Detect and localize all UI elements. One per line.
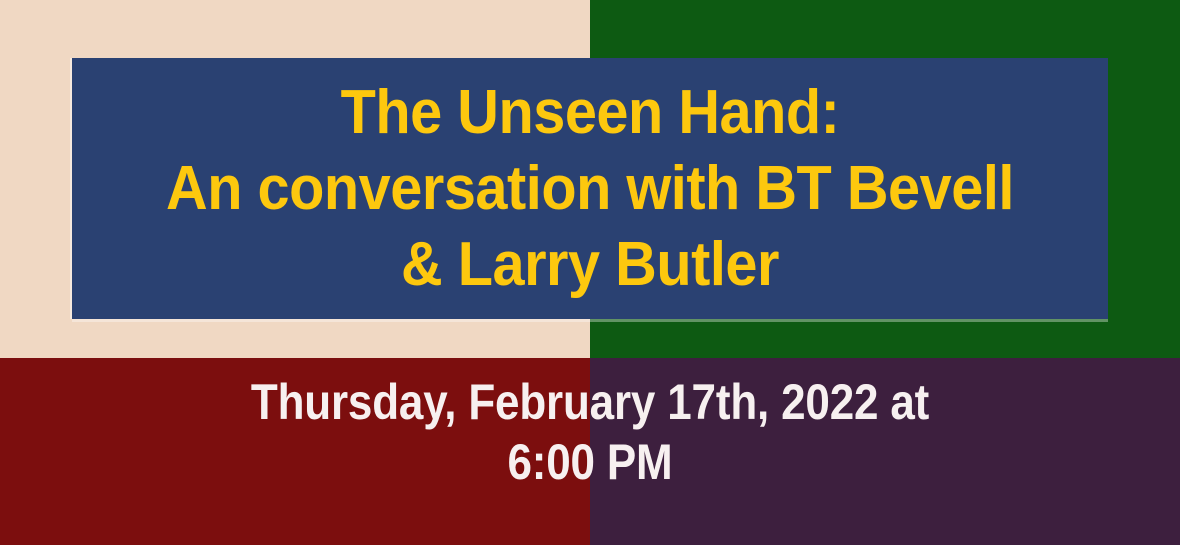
event-title-line-2: An conversation with BT Bevell [108, 151, 1071, 227]
event-time-text: 6:00 PM [71, 432, 1109, 492]
event-date-text: Thursday, February 17th, 2022 at [71, 372, 1109, 432]
event-datetime-block: Thursday, February 17th, 2022 at 6:00 PM [0, 372, 1180, 492]
event-title-line-3: & Larry Butler [108, 227, 1071, 303]
event-poster: The Unseen Hand: An conversation with BT… [0, 0, 1180, 545]
title-panel: The Unseen Hand: An conversation with BT… [72, 58, 1108, 319]
event-title-line-1: The Unseen Hand: [108, 75, 1071, 151]
